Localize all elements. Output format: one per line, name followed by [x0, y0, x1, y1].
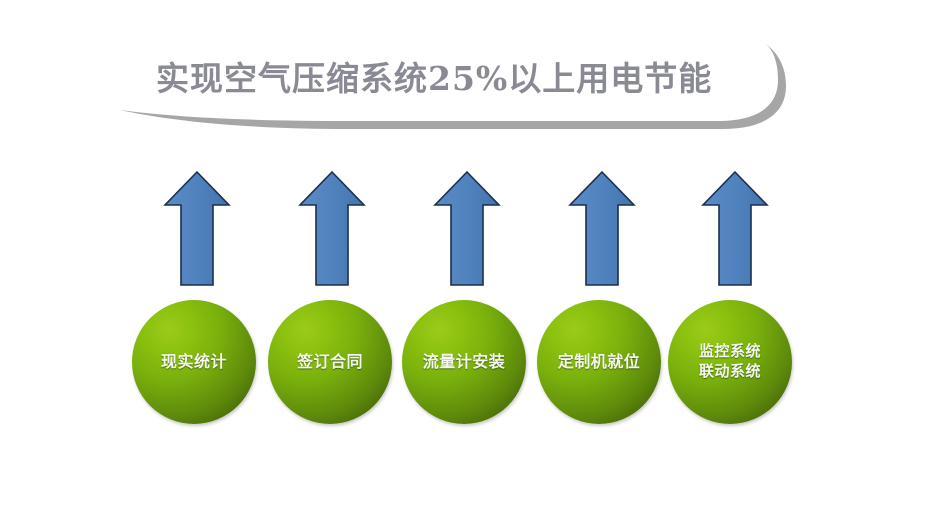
- page-title: 实现空气压缩系统25%以上用电节能: [156, 50, 756, 108]
- step-circle-label: 现实统计: [157, 351, 231, 372]
- step-circle-label: 签订合同: [293, 351, 367, 372]
- step-circle-label: 定制机就位: [554, 351, 645, 372]
- title-banner: 实现空气压缩系统25%以上用电节能: [118, 42, 788, 142]
- step-circle-label: 监控系统 联动系统: [695, 342, 765, 382]
- arrow-up-icon: [700, 168, 770, 288]
- up-arrow-1: [162, 168, 232, 288]
- step-circle-2[interactable]: 签订合同: [268, 300, 392, 424]
- step-circle-row: 现实统计 签订合同 流量计安装 定制机就位 监控系统 联动系统: [0, 300, 945, 430]
- up-arrow-4: [567, 168, 637, 288]
- arrow-up-icon: [162, 168, 232, 288]
- slide-canvas: 实现空气压缩系统25%以上用电节能: [0, 0, 945, 529]
- arrow-up-icon: [297, 168, 367, 288]
- step-circle-5[interactable]: 监控系统 联动系统: [668, 300, 792, 424]
- up-arrow-3: [432, 168, 502, 288]
- arrow-up-icon: [567, 168, 637, 288]
- up-arrow-2: [297, 168, 367, 288]
- step-circle-label: 流量计安装: [419, 351, 510, 372]
- arrow-up-icon: [432, 168, 502, 288]
- arrow-row: [0, 168, 945, 293]
- step-circle-4[interactable]: 定制机就位: [537, 300, 661, 424]
- step-circle-1[interactable]: 现实统计: [132, 300, 256, 424]
- up-arrow-5: [700, 168, 770, 288]
- step-circle-3[interactable]: 流量计安装: [402, 300, 526, 424]
